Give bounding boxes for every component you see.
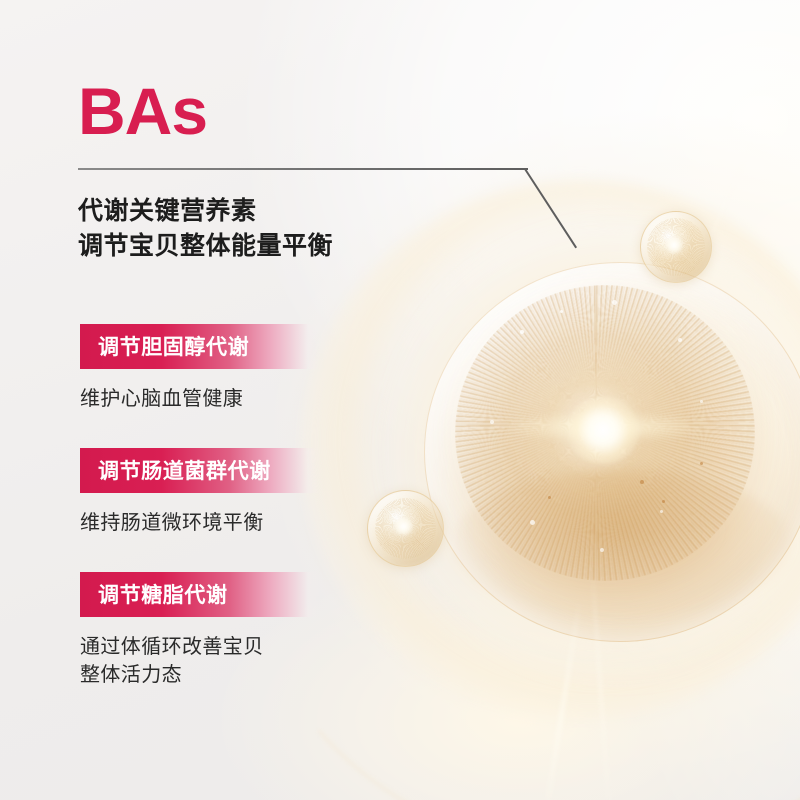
speckle — [490, 420, 494, 424]
micro-dot — [548, 496, 551, 499]
swirl-arc-1 — [274, 399, 800, 800]
speckle — [560, 310, 563, 313]
speckle — [612, 300, 617, 305]
subtitle: 代谢关键营养素 调节宝贝整体能量平衡 — [78, 194, 333, 263]
bubble-core-highlight — [394, 517, 414, 537]
micro-dot — [640, 480, 644, 484]
speckle — [600, 548, 604, 552]
sphere-burst-rays — [455, 285, 755, 581]
main-sphere — [424, 262, 800, 642]
feature-banner: 调节糖脂代谢 — [80, 572, 320, 617]
sphere-rim — [424, 262, 800, 642]
sphere-core-highlight — [566, 396, 640, 464]
light-streak-3 — [625, 133, 757, 426]
sphere-burst-rays-fine — [455, 285, 755, 581]
subtitle-line-1: 代谢关键营养素 — [78, 194, 333, 229]
speckle — [678, 338, 682, 342]
product-poster: BAs 代谢关键营养素 调节宝贝整体能量平衡 调节胆固醇代谢 维护心脑血管健康 … — [0, 0, 800, 800]
page-title: BAs — [78, 78, 207, 144]
feature-banner: 调节肠道菌群代谢 — [80, 448, 320, 493]
halo-ring — [300, 180, 800, 720]
feature-description: 通过体循环改善宝贝 整体活力态 — [80, 633, 320, 690]
bubble-top-right — [640, 211, 712, 283]
feature-item: 调节肠道菌群代谢 维持肠道微环境平衡 — [80, 448, 320, 537]
feature-item: 调节糖脂代谢 通过体循环改善宝贝 整体活力态 — [80, 572, 320, 690]
bubble-burst — [375, 498, 437, 560]
micro-dot — [700, 462, 703, 465]
speckle — [530, 520, 535, 525]
speckle — [660, 510, 663, 513]
connector-line-horizontal — [78, 168, 528, 170]
feature-item: 调节胆固醇代谢 维护心脑血管健康 — [80, 324, 320, 413]
speckle — [520, 330, 524, 334]
speckle — [700, 400, 703, 403]
bubble-burst — [647, 218, 704, 275]
bubble-core-highlight — [665, 236, 683, 254]
feature-description: 维护心脑血管健康 — [80, 385, 320, 413]
connector-line-diagonal — [524, 168, 577, 248]
light-streak-1 — [542, 601, 581, 800]
sphere-flare — [500, 412, 710, 442]
bubble-lower-left — [367, 490, 444, 567]
feature-description: 维持肠道微环境平衡 — [80, 509, 320, 537]
light-streak-2 — [591, 560, 612, 800]
feature-banner: 调节胆固醇代谢 — [80, 324, 320, 369]
sphere-golden-pool — [452, 470, 792, 620]
micro-dot — [662, 500, 665, 503]
subtitle-line-2: 调节宝贝整体能量平衡 — [78, 229, 333, 264]
swirl-arc-2 — [315, 408, 800, 800]
